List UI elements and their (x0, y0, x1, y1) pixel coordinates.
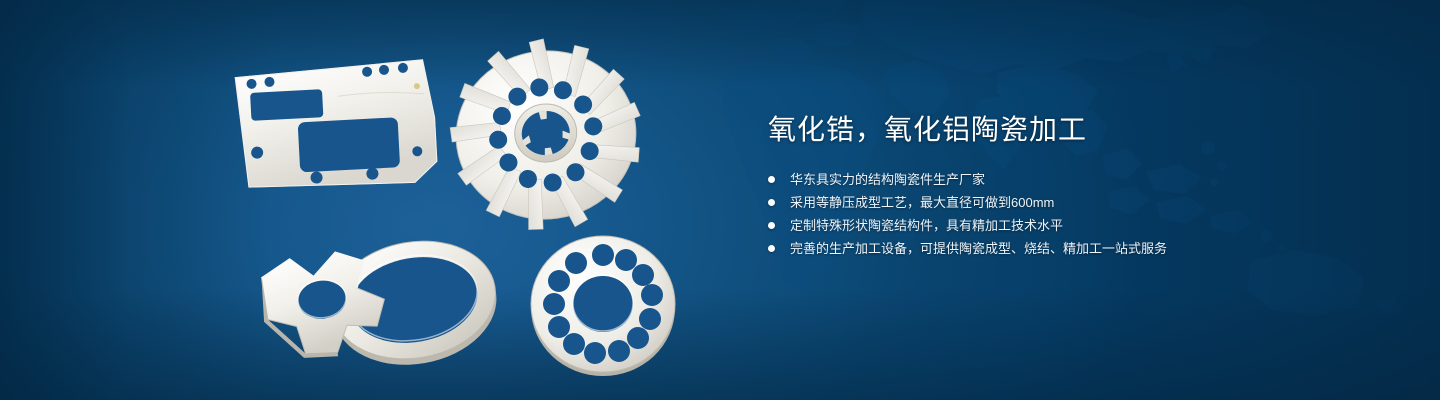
list-item: 华东具实力的结构陶瓷件生产厂家 (768, 172, 1328, 187)
bullet-dot-icon (768, 245, 775, 252)
ceramic-cross-part (246, 222, 526, 372)
feature-text: 华东具实力的结构陶瓷件生产厂家 (790, 172, 985, 187)
feature-text: 完善的生产加工设备，可提供陶瓷成型、烧结、精加工一站式服务 (790, 241, 1167, 256)
bullet-dot-icon (768, 199, 775, 206)
bullet-dot-icon (768, 222, 775, 229)
list-item: 采用等静压成型工艺，最大直径可做到600mm (768, 195, 1328, 210)
list-item: 定制特殊形状陶瓷结构件，具有精加工技术水平 (768, 218, 1328, 233)
ceramic-plate (230, 58, 460, 198)
page-title: 氧化锆，氧化铝陶瓷加工 (768, 110, 1328, 150)
feature-text: 定制特殊形状陶瓷结构件，具有精加工技术水平 (790, 218, 1063, 233)
ceramic-impeller (446, 40, 646, 230)
bullet-dot-icon (768, 176, 775, 183)
banner-copy: 氧化锆，氧化铝陶瓷加工 华东具实力的结构陶瓷件生产厂家 采用等静压成型工艺，最大… (768, 110, 1328, 256)
feature-text: 采用等静压成型工艺，最大直径可做到600mm (790, 195, 1054, 210)
promo-banner: 氧化锆，氧化铝陶瓷加工 华东具实力的结构陶瓷件生产厂家 采用等静压成型工艺，最大… (0, 0, 1440, 400)
list-item: 完善的生产加工设备，可提供陶瓷成型、烧结、精加工一站式服务 (768, 241, 1328, 256)
feature-list: 华东具实力的结构陶瓷件生产厂家 采用等静压成型工艺，最大直径可做到600mm 定… (768, 172, 1328, 256)
product-collage (230, 40, 730, 380)
ceramic-perforated-disc (518, 230, 688, 380)
